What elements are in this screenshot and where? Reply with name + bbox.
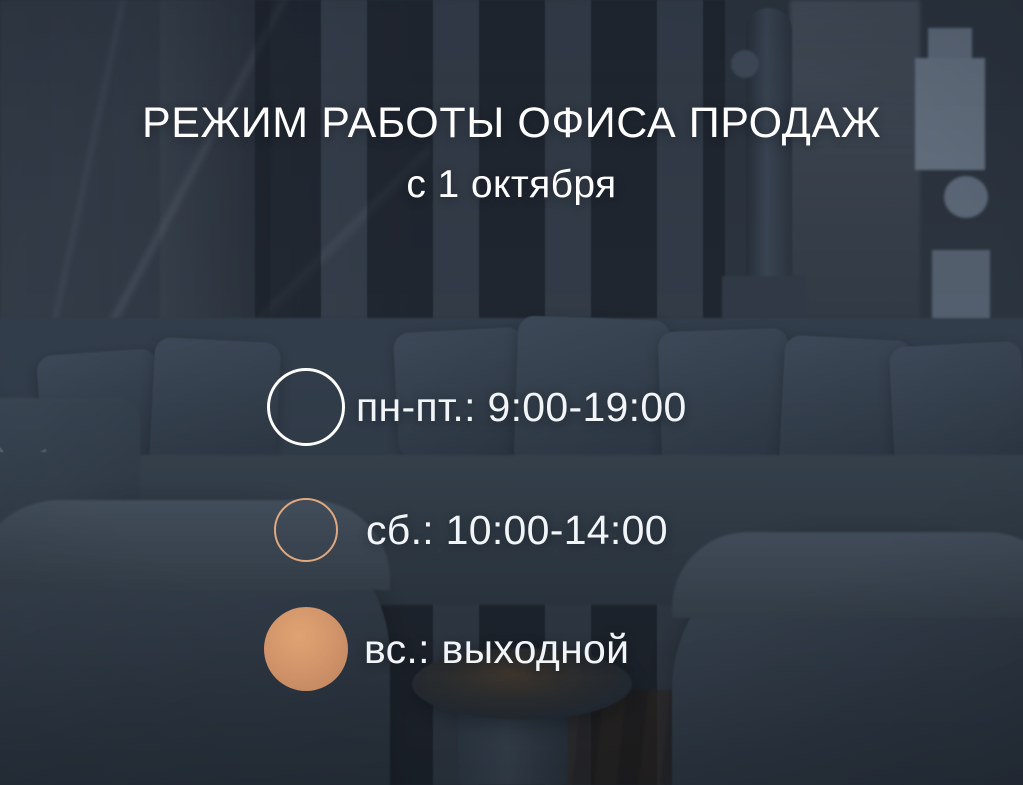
- circle-filled-tan-icon: [264, 607, 348, 691]
- schedule-label-saturday: сб.: 10:00-14:00: [366, 507, 668, 554]
- schedule-list: пн-пт.: 9:00-19:00 сб.: 10:00-14:00 вс.:…: [258, 348, 898, 704]
- schedule-label-sunday: вс.: выходной: [364, 626, 629, 673]
- circle-outline-white-icon: [267, 368, 345, 446]
- schedule-label-weekdays: пн-пт.: 9:00-19:00: [356, 384, 687, 431]
- office-hours-banner: РЕЖИМ РАБОТЫ ОФИСА ПРОДАЖ с 1 октября пн…: [0, 0, 1023, 785]
- marker-slot: [258, 359, 354, 455]
- circle-outline-peach-icon: [274, 498, 338, 562]
- schedule-row-weekdays: пн-пт.: 9:00-19:00: [258, 348, 898, 466]
- schedule-row-saturday: сб.: 10:00-14:00: [258, 466, 898, 594]
- marker-slot: [258, 482, 354, 578]
- page-title: РЕЖИМ РАБОТЫ ОФИСА ПРОДАЖ: [0, 100, 1023, 147]
- marker-slot: [258, 601, 354, 697]
- schedule-row-sunday: вс.: выходной: [258, 594, 898, 704]
- banner-content: РЕЖИМ РАБОТЫ ОФИСА ПРОДАЖ с 1 октября пн…: [0, 0, 1023, 785]
- page-subtitle: с 1 октября: [0, 163, 1023, 207]
